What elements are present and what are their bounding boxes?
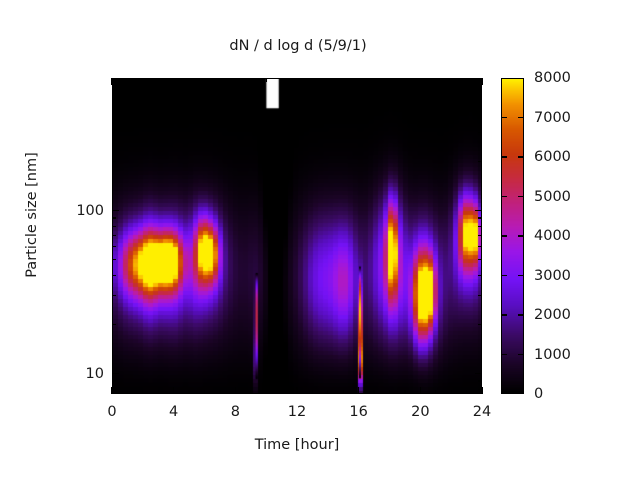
x-major-tick bbox=[173, 387, 174, 394]
x-minor-tick bbox=[127, 390, 128, 394]
x-minor-tick bbox=[250, 390, 251, 394]
x-minor-tick bbox=[466, 390, 467, 394]
colorbar-tick bbox=[501, 156, 507, 157]
y-major-tick-right bbox=[475, 373, 482, 374]
y-minor-tick-right bbox=[478, 235, 482, 236]
colorbar-tick bbox=[501, 196, 507, 197]
y-minor-tick bbox=[112, 235, 116, 236]
x-minor-tick-top bbox=[404, 78, 405, 82]
y-minor-tick bbox=[112, 161, 116, 162]
y-minor-tick bbox=[112, 83, 116, 84]
x-minor-tick-top bbox=[312, 78, 313, 82]
x-tick-label: 4 bbox=[169, 404, 178, 420]
heatmap-plot-area bbox=[112, 78, 482, 394]
y-axis-title: Particle size [nm] bbox=[24, 115, 40, 315]
y-tick-label: 100 bbox=[64, 203, 104, 219]
x-minor-tick bbox=[158, 390, 159, 394]
x-major-tick-top bbox=[173, 78, 174, 85]
y-minor-tick-right bbox=[478, 161, 482, 162]
colorbar-tick-label: 2000 bbox=[534, 307, 571, 323]
x-minor-tick bbox=[389, 390, 390, 394]
x-major-tick bbox=[235, 387, 236, 394]
x-minor-tick bbox=[219, 390, 220, 394]
x-minor-tick-top bbox=[250, 78, 251, 82]
x-minor-tick-top bbox=[466, 78, 467, 82]
y-minor-tick bbox=[112, 275, 116, 276]
x-tick-label: 20 bbox=[411, 404, 429, 420]
y-minor-tick-right bbox=[478, 217, 482, 218]
colorbar-tick bbox=[518, 117, 524, 118]
x-minor-tick bbox=[266, 390, 267, 394]
x-major-tick-top bbox=[235, 78, 236, 85]
x-major-tick bbox=[296, 387, 297, 394]
y-minor-tick-right bbox=[478, 295, 482, 296]
x-minor-tick-top bbox=[327, 78, 328, 82]
x-minor-tick-top bbox=[281, 78, 282, 82]
colorbar-tick bbox=[501, 275, 507, 276]
x-minor-tick bbox=[435, 390, 436, 394]
y-minor-tick-right bbox=[478, 389, 482, 390]
y-minor-tick-right bbox=[478, 275, 482, 276]
colorbar-tick-label: 6000 bbox=[534, 149, 571, 165]
x-minor-tick bbox=[142, 390, 143, 394]
y-minor-tick bbox=[112, 295, 116, 296]
colorbar-tick-label: 8000 bbox=[534, 70, 571, 86]
x-minor-tick-top bbox=[389, 78, 390, 82]
x-minor-tick-top bbox=[266, 78, 267, 82]
x-tick-label: 0 bbox=[107, 404, 116, 420]
x-minor-tick-top bbox=[188, 78, 189, 82]
colorbar-tick bbox=[518, 314, 524, 315]
x-major-tick-top bbox=[358, 78, 359, 85]
x-minor-tick bbox=[204, 390, 205, 394]
y-minor-tick-right bbox=[478, 246, 482, 247]
colorbar-tick bbox=[518, 196, 524, 197]
y-minor-tick bbox=[112, 96, 116, 97]
y-minor-tick bbox=[112, 226, 116, 227]
colorbar-tick-label: 5000 bbox=[534, 189, 571, 205]
y-minor-tick bbox=[112, 324, 116, 325]
y-minor-tick-right bbox=[478, 112, 482, 113]
heatmap-canvas bbox=[113, 79, 482, 394]
y-minor-tick bbox=[112, 389, 116, 390]
colorbar-tick bbox=[501, 354, 507, 355]
x-tick-label: 12 bbox=[288, 404, 306, 420]
x-minor-tick-top bbox=[204, 78, 205, 82]
y-minor-tick-right bbox=[478, 132, 482, 133]
x-minor-tick-top bbox=[127, 78, 128, 82]
x-minor-tick bbox=[373, 390, 374, 394]
x-tick-label: 24 bbox=[473, 404, 491, 420]
y-minor-tick-right bbox=[478, 380, 482, 381]
x-minor-tick-top bbox=[219, 78, 220, 82]
y-minor-tick bbox=[112, 246, 116, 247]
x-minor-tick bbox=[404, 390, 405, 394]
x-minor-tick-top bbox=[343, 78, 344, 82]
y-minor-tick-right bbox=[478, 324, 482, 325]
x-minor-tick bbox=[312, 390, 313, 394]
y-minor-tick bbox=[112, 259, 116, 260]
y-minor-tick bbox=[112, 217, 116, 218]
x-minor-tick bbox=[343, 390, 344, 394]
y-major-tick bbox=[112, 210, 119, 211]
y-minor-tick bbox=[112, 380, 116, 381]
x-minor-tick bbox=[188, 390, 189, 394]
x-minor-tick-top bbox=[373, 78, 374, 82]
y-minor-tick-right bbox=[478, 96, 482, 97]
colorbar-tick bbox=[501, 117, 507, 118]
x-minor-tick bbox=[281, 390, 282, 394]
x-major-tick-top bbox=[420, 78, 421, 85]
colorbar-tick bbox=[501, 314, 507, 315]
colorbar-tick-label: 1000 bbox=[534, 347, 571, 363]
colorbar-tick-label: 0 bbox=[534, 386, 543, 402]
x-minor-tick bbox=[327, 390, 328, 394]
x-tick-label: 16 bbox=[349, 404, 367, 420]
colorbar-tick-label: 7000 bbox=[534, 110, 571, 126]
x-major-tick bbox=[420, 387, 421, 394]
colorbar-tick bbox=[518, 354, 524, 355]
y-minor-tick-right bbox=[478, 259, 482, 260]
y-major-tick-right bbox=[475, 210, 482, 211]
y-minor-tick bbox=[112, 132, 116, 133]
x-major-tick bbox=[358, 387, 359, 394]
y-tick-label: 10 bbox=[64, 366, 104, 382]
y-minor-tick-right bbox=[478, 83, 482, 84]
chart-title: dN / d log d (5/9/1) bbox=[0, 38, 596, 54]
x-tick-label: 8 bbox=[231, 404, 240, 420]
x-minor-tick-top bbox=[142, 78, 143, 82]
x-minor-tick-top bbox=[451, 78, 452, 82]
colorbar-tick bbox=[518, 235, 524, 236]
y-minor-tick-right bbox=[478, 226, 482, 227]
x-axis-title: Time [hour] bbox=[112, 437, 482, 453]
x-minor-tick bbox=[451, 390, 452, 394]
colorbar-tick-label: 4000 bbox=[534, 228, 571, 244]
colorbar-tick bbox=[518, 275, 524, 276]
x-major-tick-top bbox=[296, 78, 297, 85]
y-minor-tick bbox=[112, 112, 116, 113]
x-minor-tick-top bbox=[158, 78, 159, 82]
colorbar-tick bbox=[518, 156, 524, 157]
x-minor-tick-top bbox=[435, 78, 436, 82]
colorbar-tick-label: 3000 bbox=[534, 268, 571, 284]
figure-root: dN / d log d (5/9/1) 0481216202410100 Ti… bbox=[0, 0, 640, 480]
y-major-tick bbox=[112, 373, 119, 374]
colorbar-tick bbox=[501, 235, 507, 236]
